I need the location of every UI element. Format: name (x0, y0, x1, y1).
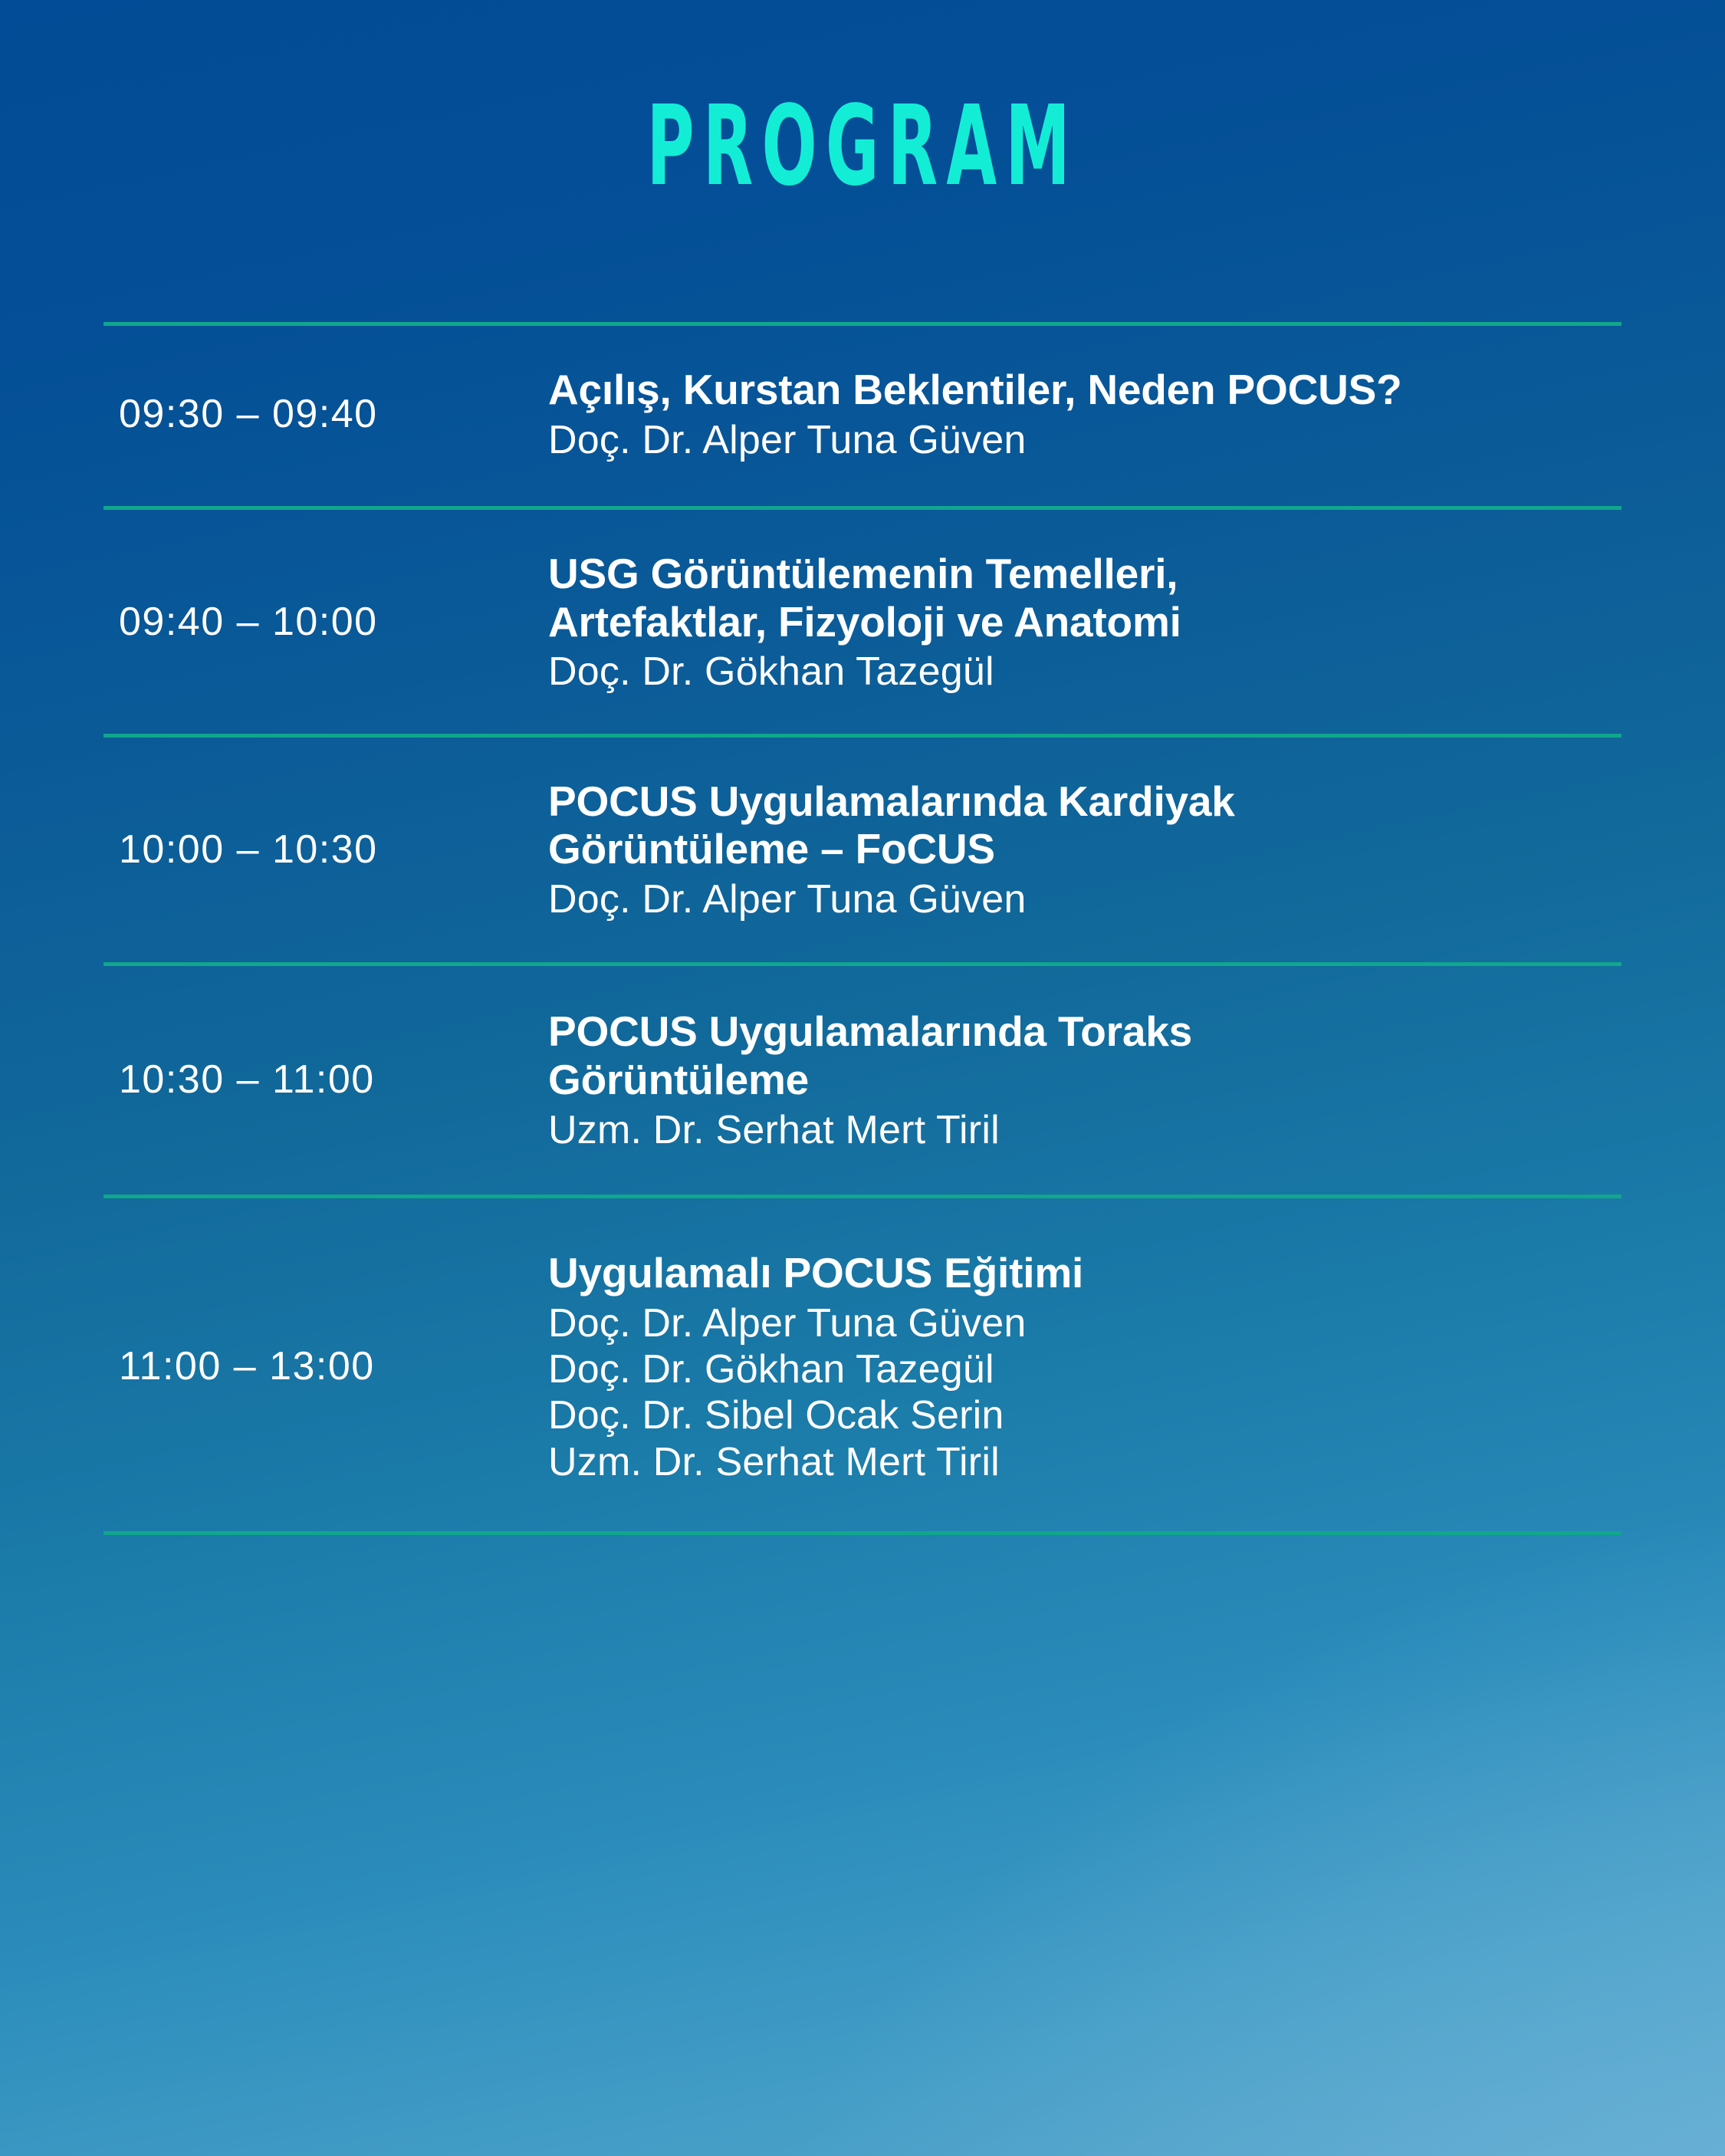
session-time: 10:30 – 11:00 (103, 1057, 533, 1103)
session-speaker: Doç. Dr. Gökhan Tazegül (548, 1346, 1621, 1392)
session-title: Uygulamalı POCUS Eğitimi (548, 1249, 1621, 1297)
session-speaker: Doç. Dr. Alper Tuna Güven (548, 1300, 1621, 1346)
row-divider (103, 1531, 1621, 1535)
session-details: POCUS Uygulamalarında KardiyakGörüntülem… (533, 777, 1621, 923)
session-speaker: Doç. Dr. Gökhan Tazegül (548, 649, 1621, 695)
session-details: Uygulamalı POCUS EğitimiDoç. Dr. Alper T… (533, 1249, 1621, 1485)
schedule-row: 10:00 – 10:30POCUS Uygulamalarında Kardi… (103, 738, 1621, 963)
session-title: Açılış, Kurstan Beklentiler, Neden POCUS… (548, 366, 1621, 414)
session-time: 09:30 – 09:40 (103, 392, 533, 438)
session-time: 10:00 – 10:30 (103, 827, 533, 873)
session-time: 11:00 – 13:00 (103, 1344, 533, 1390)
schedule-row: 09:30 – 09:40Açılış, Kurstan Beklentiler… (103, 326, 1621, 506)
session-title-line: POCUS Uygulamalarında Kardiyak (548, 777, 1621, 826)
session-title: USG Görüntülemenin Temelleri,Artefaktlar… (548, 550, 1621, 646)
session-title-line: Artefaktlar, Fizyoloji ve Anatomi (548, 598, 1621, 646)
schedule-row: 09:40 – 10:00USG Görüntülemenin Temeller… (103, 510, 1621, 734)
session-speaker: Doç. Dr. Alper Tuna Güven (548, 876, 1621, 922)
page-title-container: PROGRAM (0, 90, 1725, 181)
session-details: USG Görüntülemenin Temelleri,Artefaktlar… (533, 550, 1621, 695)
session-speaker: Uzm. Dr. Serhat Mert Tiril (548, 1439, 1621, 1485)
schedule-row: 10:30 – 11:00POCUS Uygulamalarında Torak… (103, 966, 1621, 1195)
program-poster: PROGRAM 09:30 – 09:40Açılış, Kurstan Bek… (0, 0, 1725, 2156)
session-title: POCUS Uygulamalarında ToraksGörüntüleme (548, 1007, 1621, 1103)
session-speaker: Uzm. Dr. Serhat Mert Tiril (548, 1107, 1621, 1153)
session-title-line: Uygulamalı POCUS Eğitimi (548, 1249, 1621, 1297)
schedule-row: 11:00 – 13:00Uygulamalı POCUS EğitimiDoç… (103, 1198, 1621, 1531)
session-time: 09:40 – 10:00 (103, 600, 533, 646)
page-title: PROGRAM (646, 90, 1079, 201)
session-title-line: Açılış, Kurstan Beklentiler, Neden POCUS… (548, 366, 1621, 414)
session-title-line: POCUS Uygulamalarında Toraks (548, 1007, 1621, 1056)
session-speaker: Doç. Dr. Alper Tuna Güven (548, 417, 1621, 463)
session-title-line: Görüntüleme (548, 1056, 1621, 1104)
session-speaker: Doç. Dr. Sibel Ocak Serin (548, 1392, 1621, 1438)
session-title: POCUS Uygulamalarında KardiyakGörüntülem… (548, 777, 1621, 873)
session-title-line: Görüntüleme – FoCUS (548, 825, 1621, 873)
schedule-table: 09:30 – 09:40Açılış, Kurstan Beklentiler… (103, 322, 1621, 1535)
session-details: POCUS Uygulamalarında ToraksGörüntülemeU… (533, 1007, 1621, 1153)
session-title-line: USG Görüntülemenin Temelleri, (548, 550, 1621, 598)
session-details: Açılış, Kurstan Beklentiler, Neden POCUS… (533, 366, 1621, 463)
